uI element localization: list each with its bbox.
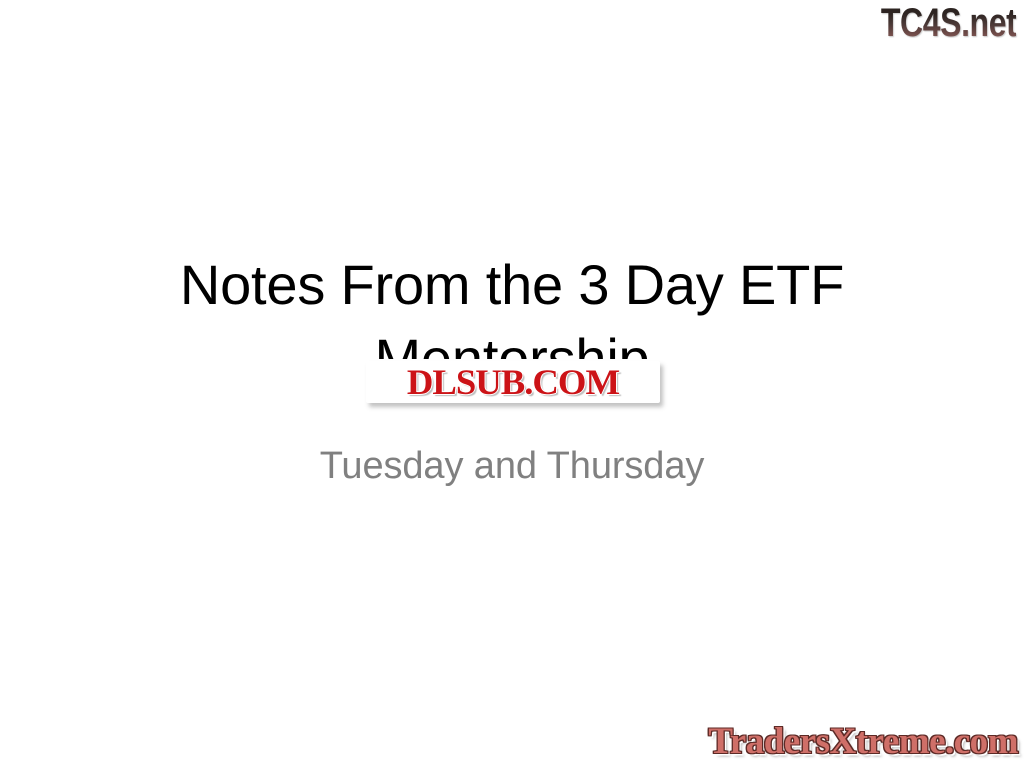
presentation-slide: TC4S.net Notes From the 3 Day ETF Mentor…	[0, 0, 1024, 768]
slide-subtitle: Tuesday and Thursday	[0, 442, 1024, 490]
tc4s-site-logo: TC4S.net	[881, 2, 1016, 44]
slide-title-line-1: Notes From the 3 Day ETF	[0, 248, 1024, 322]
tradersxtreme-brand-logo: TradersXtreme.com	[708, 722, 1018, 762]
dlsub-watermark-badge: DLSUB.COM	[366, 361, 660, 403]
dlsub-watermark-text: DLSUB.COM	[407, 364, 619, 400]
